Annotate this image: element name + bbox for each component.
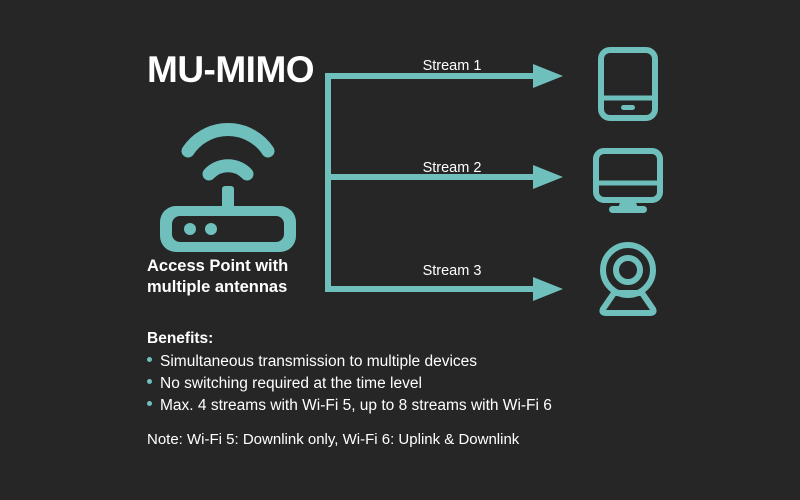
- footnote: Note: Wi-Fi 5: Downlink only, Wi-Fi 6: U…: [147, 431, 519, 448]
- benefit-item-text: Simultaneous transmission to multiple de…: [160, 351, 477, 373]
- stream-label-3: Stream 3: [352, 263, 552, 279]
- stream-label-2: Stream 2: [352, 160, 552, 176]
- stream-label-1: Stream 1: [352, 58, 552, 74]
- wifi-router-icon: [150, 112, 310, 252]
- benefit-item: Max. 4 streams with Wi-Fi 5, up to 8 str…: [147, 395, 707, 417]
- benefit-item: Simultaneous transmission to multiple de…: [147, 351, 707, 373]
- benefits-block: Benefits: Simultaneous transmission to m…: [147, 328, 707, 417]
- desktop-monitor-icon: [588, 142, 668, 222]
- tablet-icon: [588, 44, 668, 124]
- diagram-canvas: MU-MIMO Access Point with multiple anten…: [0, 0, 800, 500]
- bullet-dot-icon: [147, 401, 152, 406]
- bullet-dot-icon: [147, 357, 152, 362]
- benefit-item: No switching required at the time level: [147, 373, 707, 395]
- webcam-icon: [588, 238, 668, 318]
- benefit-item-text: No switching required at the time level: [160, 373, 422, 395]
- page-title: MU-MIMO: [147, 48, 314, 92]
- benefit-item-text: Max. 4 streams with Wi-Fi 5, up to 8 str…: [160, 395, 552, 417]
- benefits-heading: Benefits:: [147, 328, 707, 350]
- bullet-dot-icon: [147, 379, 152, 384]
